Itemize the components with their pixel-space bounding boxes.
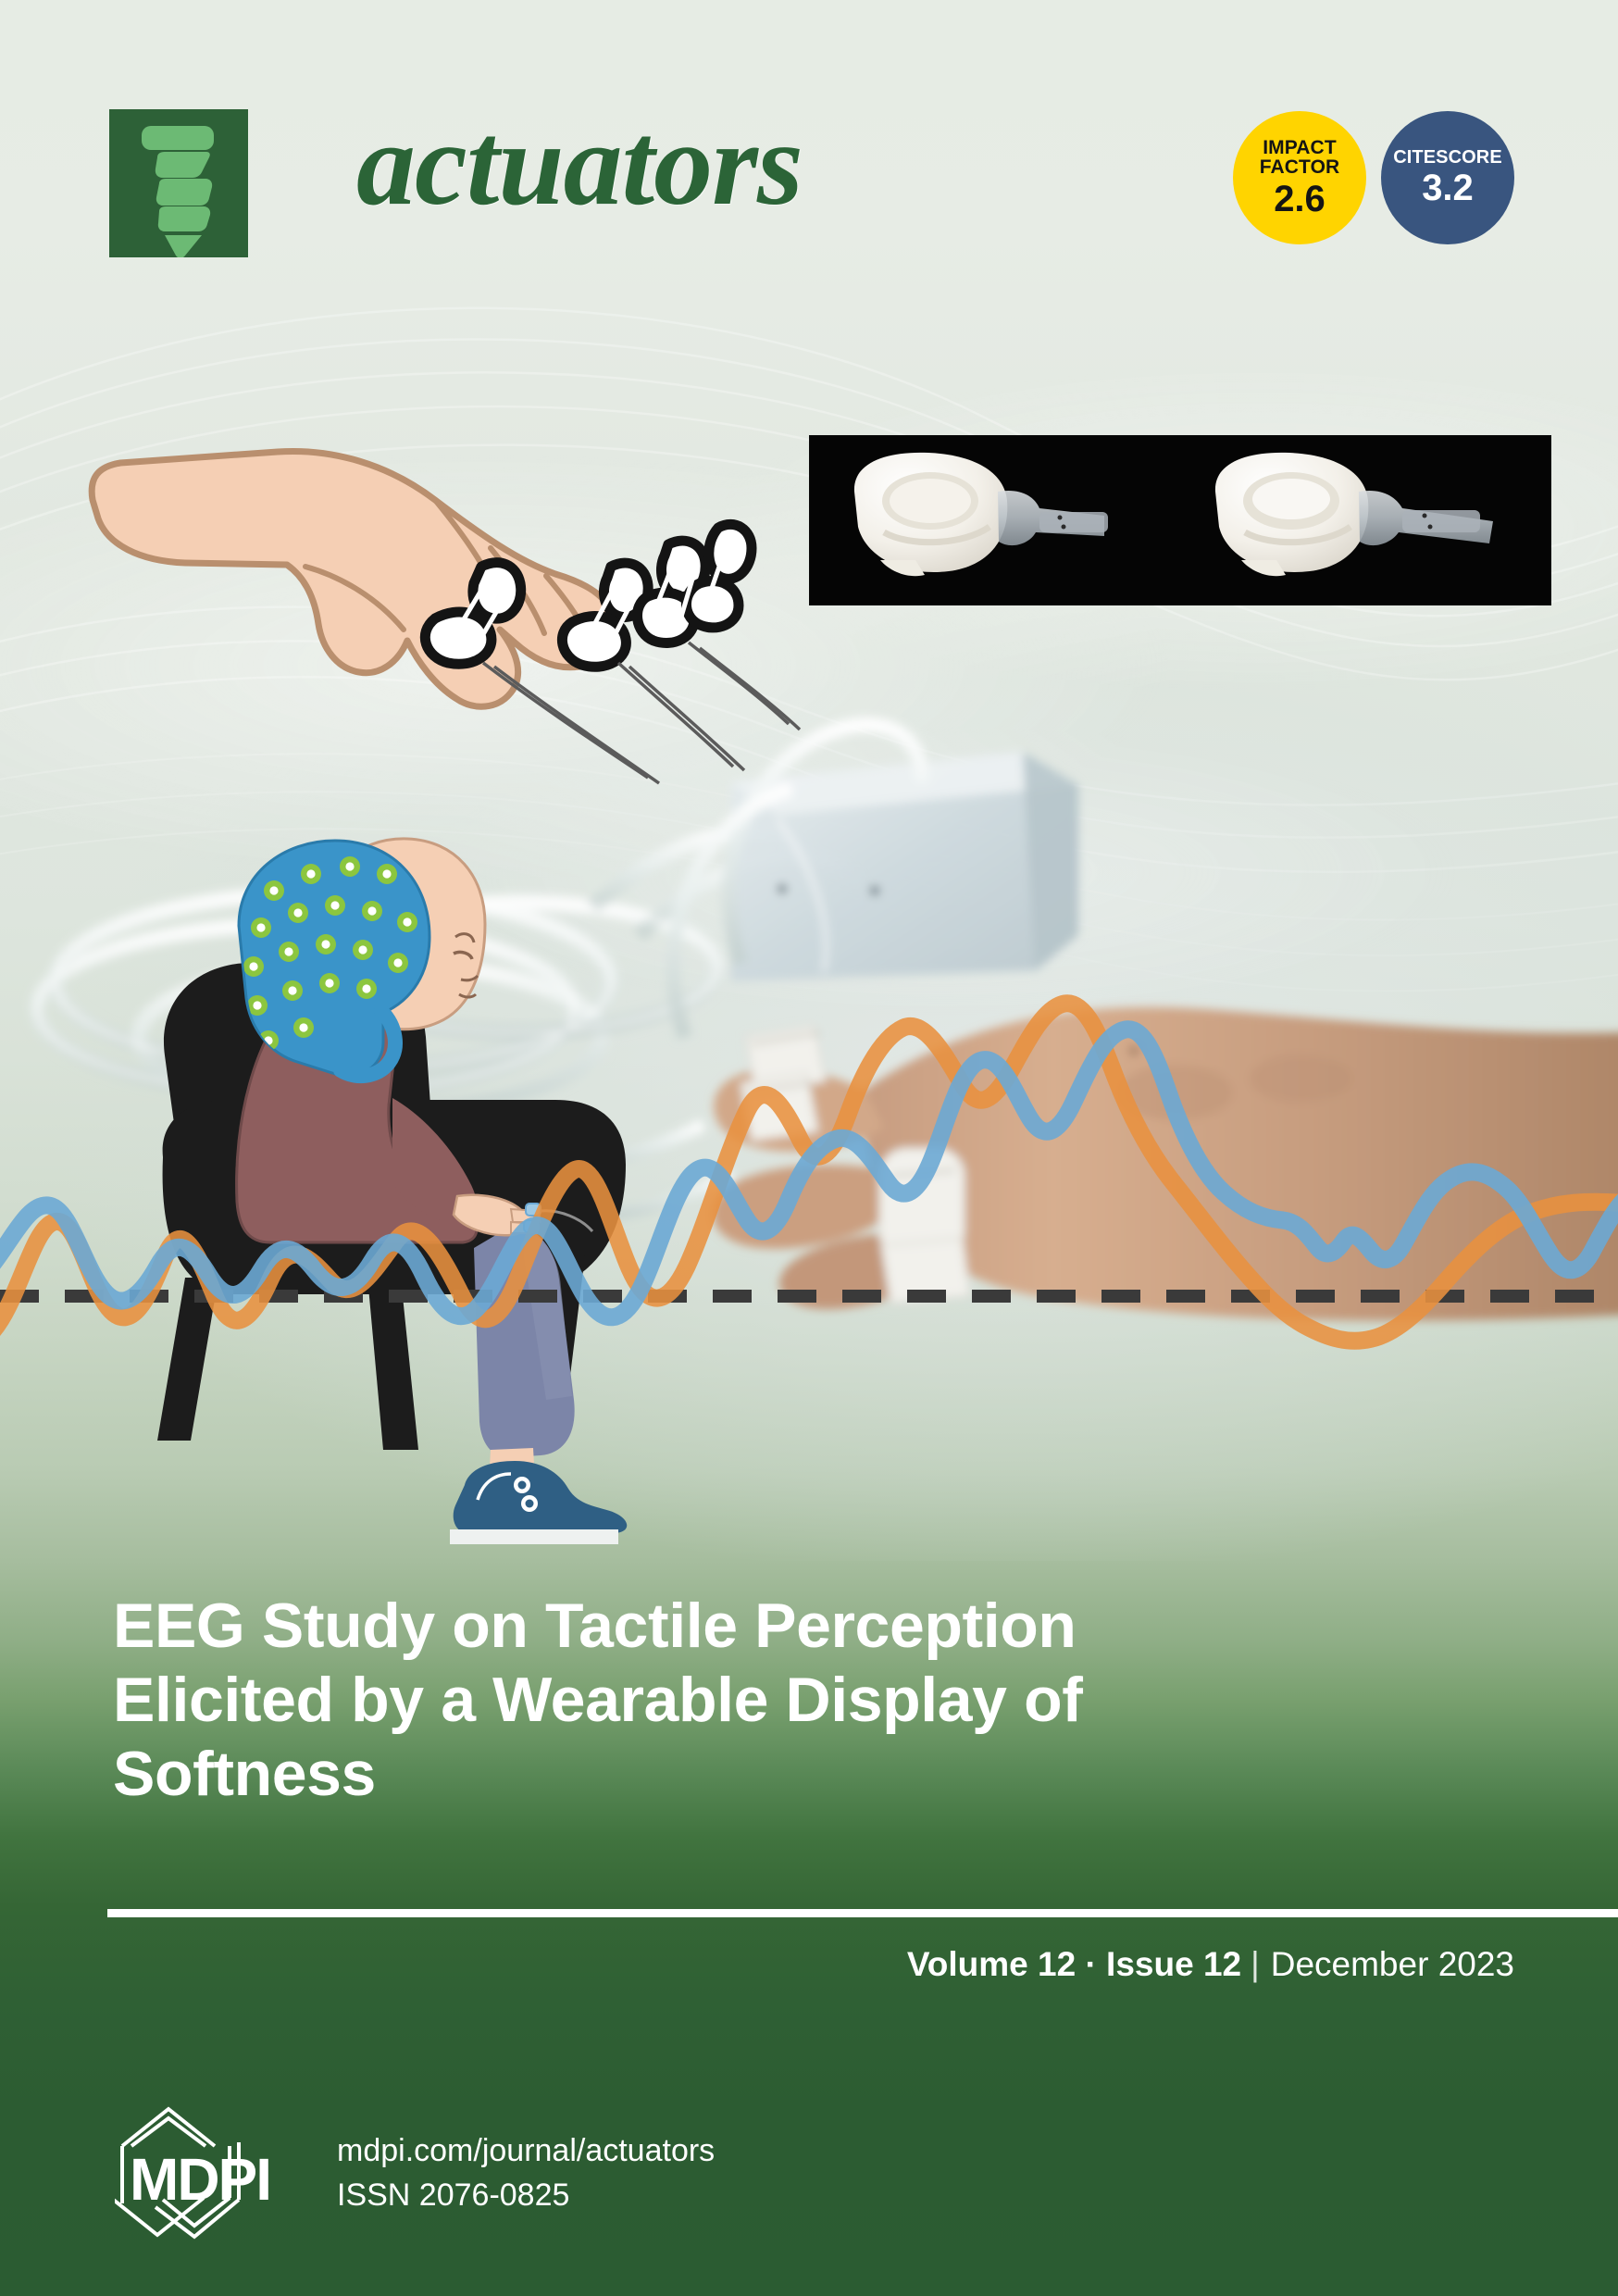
issue-info: Volume 12 · Issue 12|December 2023 xyxy=(907,1946,1514,1984)
title-divider-rule xyxy=(107,1909,1618,1917)
mdpi-wordmark: MDPI xyxy=(130,2146,270,2213)
screw-actuator-icon xyxy=(109,109,248,257)
impact-factor-label-1: IMPACT xyxy=(1263,138,1337,157)
journal-website[interactable]: mdpi.com/journal/actuators xyxy=(337,2128,715,2173)
cover-title-line-2: Elicited by a Wearable Display of xyxy=(113,1663,1409,1737)
actuator-device-photo xyxy=(809,435,1551,605)
mdpi-hexagon-logo: MDPI xyxy=(115,2103,300,2242)
cover-article-title: EEG Study on Tactile Perception Elicited… xyxy=(113,1589,1409,1812)
impact-factor-badge: IMPACT FACTOR 2.6 xyxy=(1233,111,1366,244)
journal-logo-mark xyxy=(109,109,248,257)
footer-links: mdpi.com/journal/actuators ISSN 2076-082… xyxy=(337,2128,715,2218)
citescore-value: 3.2 xyxy=(1422,169,1474,207)
journal-issn: ISSN 2076-0825 xyxy=(337,2173,715,2217)
metric-badges: IMPACT FACTOR 2.6 CITESCORE 3.2 xyxy=(1233,111,1514,244)
citescore-label: CITESCORE xyxy=(1393,148,1502,167)
issue-date: December 2023 xyxy=(1271,1945,1514,1983)
volume-issue: Volume 12 · Issue 12 xyxy=(907,1945,1241,1983)
issue-separator: | xyxy=(1251,1945,1260,1983)
journal-cover: actuators IMPACT FACTOR 2.6 CITESCORE 3.… xyxy=(0,0,1618,2296)
journal-name: actuators xyxy=(356,96,803,232)
cover-title-line-1: EEG Study on Tactile Perception xyxy=(113,1589,1409,1663)
cover-title-line-3: Softness xyxy=(113,1737,1409,1811)
impact-factor-label-2: FACTOR xyxy=(1260,157,1340,177)
impact-factor-value: 2.6 xyxy=(1274,181,1326,218)
footer: MDPI mdpi.com/journal/actuators ISSN 207… xyxy=(115,2103,715,2242)
citescore-badge: CITESCORE 3.2 xyxy=(1381,111,1514,244)
